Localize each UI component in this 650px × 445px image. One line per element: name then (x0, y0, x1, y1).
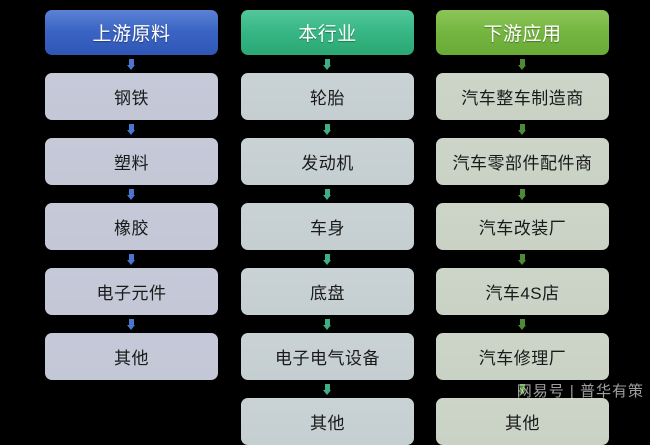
node-industry-2: 车身 (241, 203, 414, 250)
arrow-down-icon (518, 319, 527, 330)
node-upstream-0: 钢铁 (45, 73, 218, 120)
arrow-down-icon (127, 59, 136, 70)
arrow-down-icon (518, 254, 527, 265)
watermark: 网易号 | 普华有策 (517, 380, 644, 401)
arrow-down-icon (518, 124, 527, 135)
column-header-upstream: 上游原料 (45, 10, 218, 55)
column-industry: 本行业 轮胎 发动机 车身 底盘 电子电气设备 其他 (241, 10, 414, 445)
arrow-down-icon (127, 124, 136, 135)
node-industry-5: 其他 (241, 398, 414, 445)
node-upstream-3: 电子元件 (45, 268, 218, 315)
node-upstream-4: 其他 (45, 333, 218, 380)
arrow-down-icon (323, 319, 332, 330)
node-downstream-5: 其他 (436, 398, 609, 445)
arrow-down-icon (323, 384, 332, 395)
arrow-down-icon (323, 189, 332, 200)
node-downstream-0: 汽车整车制造商 (436, 73, 609, 120)
arrow-down-icon (323, 59, 332, 70)
node-industry-0: 轮胎 (241, 73, 414, 120)
node-industry-4: 电子电气设备 (241, 333, 414, 380)
node-industry-3: 底盘 (241, 268, 414, 315)
arrow-down-icon (127, 254, 136, 265)
arrow-down-icon (518, 189, 527, 200)
node-industry-1: 发动机 (241, 138, 414, 185)
node-downstream-1: 汽车零部件配件商 (436, 138, 609, 185)
industry-chain-diagram: 上游原料 钢铁 塑料 橡胶 电子元件 其他 本行业 轮胎 发动机 车身 底盘 电… (0, 0, 650, 407)
column-header-industry: 本行业 (241, 10, 414, 55)
arrow-down-icon (323, 254, 332, 265)
column-header-downstream: 下游应用 (436, 10, 609, 55)
arrow-down-icon (323, 124, 332, 135)
node-downstream-3: 汽车4S店 (436, 268, 609, 315)
node-downstream-2: 汽车改装厂 (436, 203, 609, 250)
node-downstream-4: 汽车修理厂 (436, 333, 609, 380)
node-upstream-1: 塑料 (45, 138, 218, 185)
node-upstream-2: 橡胶 (45, 203, 218, 250)
arrow-down-icon (127, 319, 136, 330)
arrow-down-icon (518, 59, 527, 70)
column-upstream: 上游原料 钢铁 塑料 橡胶 电子元件 其他 (45, 10, 218, 380)
arrow-down-icon (127, 189, 136, 200)
